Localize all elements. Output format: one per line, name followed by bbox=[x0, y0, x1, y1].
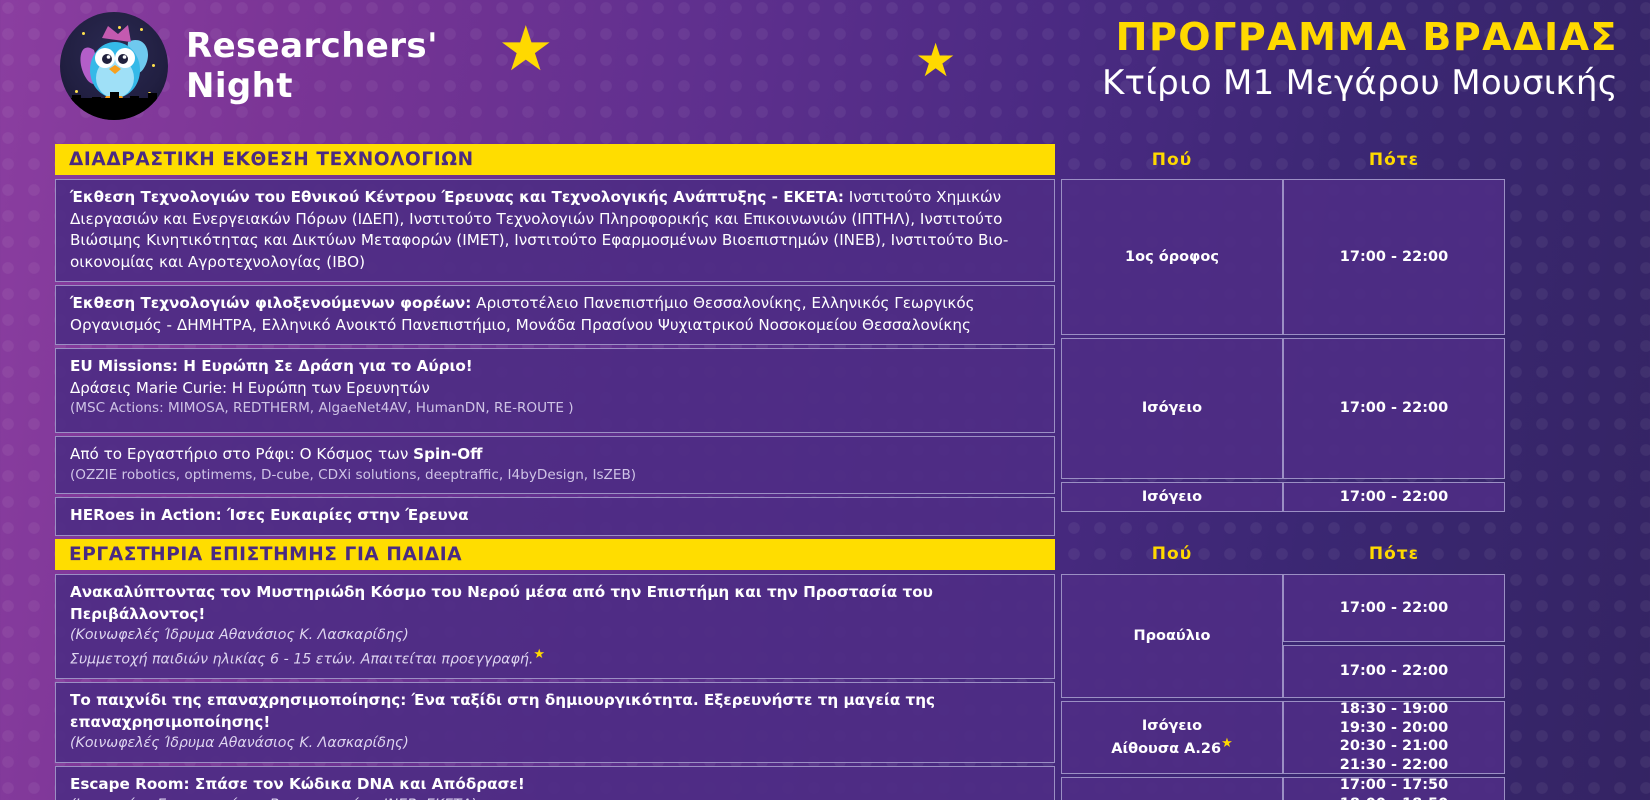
when-cell: 17:00 - 17:50 18:00 - 18:50 19:00 - 19:5… bbox=[1283, 777, 1505, 800]
row-title: Από το Εργαστήριο στο Ράφι: Ο Κόσμος των… bbox=[70, 444, 1042, 466]
when-cell: 17:00 - 22:00 bbox=[1283, 179, 1505, 335]
row-title: Έκθεση Τεχνολογιών του Εθνικού Κέντρου Έ… bbox=[70, 187, 1042, 273]
cell-value: 17:00 - 17:50 18:00 - 18:50 19:00 - 19:5… bbox=[1340, 776, 1448, 800]
cell-value: 18:30 - 19:00 19:30 - 20:00 20:30 - 21:0… bbox=[1340, 700, 1448, 774]
when-cell: 17:00 - 22:00 bbox=[1283, 645, 1505, 698]
program-heading-group: ΠΡΟΓΡΑΜΜΑ ΒΡΑΔΙΑΣ Κτίριο Μ1 Μεγάρου Μουσ… bbox=[1102, 16, 1618, 104]
cell-value: Ισόγειο bbox=[1142, 399, 1202, 418]
program-subtitle: Κτίριο Μ1 Μεγάρου Μουσικής bbox=[1102, 62, 1618, 105]
column-header-where: Πού bbox=[1061, 144, 1283, 175]
row-title: HERoes in Action: Ίσες Ευκαιρίες στην Έρ… bbox=[70, 505, 1042, 527]
table-row: HERoes in Action: Ίσες Ευκαιρίες στην Έρ… bbox=[55, 497, 1055, 536]
when-cell: 17:00 - 22:00 bbox=[1283, 338, 1505, 479]
programme-table: ΔΙΑΔΡΑΣΤΙΚΗ ΕΚΘΕΣΗ ΤΕΧΝΟΛΟΓΙΩΝΠούΠότεΈκθ… bbox=[55, 144, 1505, 800]
row-note: (MSC Actions: MIMOSA, REDTHERM, AlgaeNet… bbox=[70, 399, 1042, 418]
cell-value: 17:00 - 22:00 bbox=[1340, 248, 1448, 267]
table-row: Έκθεση Τεχνολογιών του Εθνικού Κέντρου Έ… bbox=[55, 179, 1055, 282]
brand-logo-group: Researchers' Night bbox=[60, 12, 438, 120]
where-cell: Ισόγειο bbox=[1061, 338, 1283, 479]
column-header-when: Πότε bbox=[1283, 539, 1505, 570]
table-row: EU Missions: Η Ευρώπη Σε Δράση για το Αύ… bbox=[55, 348, 1055, 433]
where-column: ΠροαύλιοΙσόγειο Αίθουσα Α.26★3ος όροφος bbox=[1061, 574, 1283, 800]
when-cell: 18:30 - 19:00 19:30 - 20:00 20:30 - 21:0… bbox=[1283, 701, 1505, 774]
cell-value: 17:00 - 22:00 bbox=[1340, 399, 1448, 418]
description-column: Ανακαλύπτοντας τον Μυστηριώδη Κόσμο του … bbox=[55, 574, 1055, 800]
section-grid: Έκθεση Τεχνολογιών του Εθνικού Κέντρου Έ… bbox=[55, 179, 1505, 539]
star-icon-right: ★ bbox=[915, 37, 956, 83]
row-detail: (Ινστιτούτο Εφαρμοσμένων Βιοεπιστημών - … bbox=[70, 795, 1042, 800]
program-title: ΠΡΟΓΡΑΜΜΑ ΒΡΑΔΙΑΣ bbox=[1102, 16, 1618, 60]
cell-value: 17:00 - 22:00 bbox=[1340, 488, 1448, 507]
where-cell: Προαύλιο bbox=[1061, 574, 1283, 698]
cell-value: Ισόγειο bbox=[1142, 488, 1202, 507]
description-column: Έκθεση Τεχνολογιών του Εθνικού Κέντρου Έ… bbox=[55, 179, 1055, 539]
where-cell: 3ος όροφος bbox=[1061, 777, 1283, 800]
row-detail: (Κοινωφελές Ίδρυμα Αθανάσιος Κ. Λασκαρίδ… bbox=[70, 625, 1042, 646]
table-row: Από το Εργαστήριο στο Ράφι: Ο Κόσμος των… bbox=[55, 436, 1055, 494]
asterisk-icon: ★ bbox=[533, 647, 545, 662]
table-row: Έκθεση Τεχνολογιών φιλοξενούμενων φορέων… bbox=[55, 285, 1055, 345]
page-header: Researchers' Night ★ ★ ΠΡΟΓΡΑΜΜΑ ΒΡΑΔΙΑΣ… bbox=[0, 0, 1650, 133]
when-cell: 17:00 - 22:00 bbox=[1283, 574, 1505, 642]
column-header-when: Πότε bbox=[1283, 144, 1505, 175]
row-detail: (Κοινωφελές Ίδρυμα Αθανάσιος Κ. Λασκαρίδ… bbox=[70, 733, 1042, 754]
column-header-where: Πού bbox=[1061, 539, 1283, 570]
where-cell: Ισόγειο bbox=[1061, 482, 1283, 512]
when-column: 17:00 - 22:0017:00 - 22:0017:00 - 22:00 bbox=[1283, 179, 1505, 539]
section-title: ΕΡΓΑΣΤΗΡΙΑ ΕΠΙΣΤΗΜΗΣ ΓΙΑ ΠΑΙΔΙΑ bbox=[55, 539, 1055, 570]
cell-value: 17:00 - 22:00 bbox=[1340, 662, 1448, 681]
table-row: Το παιχνίδι της επαναχρησιμοποίησης: Ένα… bbox=[55, 682, 1055, 763]
row-title: EU Missions: Η Ευρώπη Σε Δράση για το Αύ… bbox=[70, 356, 1042, 378]
row-title: Escape Room: Σπάσε τον Κώδικα DNA και Απ… bbox=[70, 774, 1042, 796]
row-note: (OZZIE robotics, optimems, D-cube, CDXi … bbox=[70, 466, 1042, 485]
when-cell: 17:00 - 22:00 bbox=[1283, 482, 1505, 512]
where-column: 1ος όροφοςΙσόγειοΙσόγειο bbox=[1061, 179, 1283, 539]
where-cell: 1ος όροφος bbox=[1061, 179, 1283, 335]
row-subtitle: Δράσεις Marie Curie: Η Ευρώπη των Ερευνη… bbox=[70, 378, 1042, 399]
table-row: Ανακαλύπτοντας τον Μυστηριώδη Κόσμο του … bbox=[55, 574, 1055, 679]
brand-name: Researchers' Night bbox=[186, 26, 438, 106]
owl-illustration-icon bbox=[74, 22, 156, 108]
section-grid: Ανακαλύπτοντας τον Μυστηριώδη Κόσμο του … bbox=[55, 574, 1505, 800]
row-title: Ανακαλύπτοντας τον Μυστηριώδη Κόσμο του … bbox=[70, 582, 1042, 625]
cell-value: Προαύλιο bbox=[1133, 627, 1210, 646]
row-title: Έκθεση Τεχνολογιών φιλοξενούμενων φορέων… bbox=[70, 293, 1042, 336]
row-title: Το παιχνίδι της επαναχρησιμοποίησης: Ένα… bbox=[70, 690, 1042, 733]
owl-logo-icon bbox=[60, 12, 168, 120]
where-cell: Ισόγειο Αίθουσα Α.26★ bbox=[1061, 701, 1283, 774]
section-header-row: ΕΡΓΑΣΤΗΡΙΑ ΕΠΙΣΤΗΜΗΣ ΓΙΑ ΠΑΙΔΙΑΠούΠότε bbox=[55, 539, 1505, 570]
cell-value: 1ος όροφος bbox=[1125, 248, 1219, 267]
star-icon-left: ★ bbox=[498, 18, 554, 80]
when-column: 17:00 - 22:0017:00 - 22:0018:30 - 19:00 … bbox=[1283, 574, 1505, 800]
cell-value: Ισόγειο Αίθουσα Α.26★ bbox=[1111, 717, 1232, 758]
table-row: Escape Room: Σπάσε τον Κώδικα DNA και Απ… bbox=[55, 766, 1055, 800]
section-title: ΔΙΑΔΡΑΣΤΙΚΗ ΕΚΘΕΣΗ ΤΕΧΝΟΛΟΓΙΩΝ bbox=[55, 144, 1055, 175]
cell-value: 17:00 - 22:00 bbox=[1340, 599, 1448, 618]
row-detail: Συμμετοχή παιδιών ηλικίας 6 - 15 ετών. Α… bbox=[70, 646, 1042, 670]
section-header-row: ΔΙΑΔΡΑΣΤΙΚΗ ΕΚΘΕΣΗ ΤΕΧΝΟΛΟΓΙΩΝΠούΠότε bbox=[55, 144, 1505, 175]
asterisk-icon: ★ bbox=[1221, 736, 1233, 751]
